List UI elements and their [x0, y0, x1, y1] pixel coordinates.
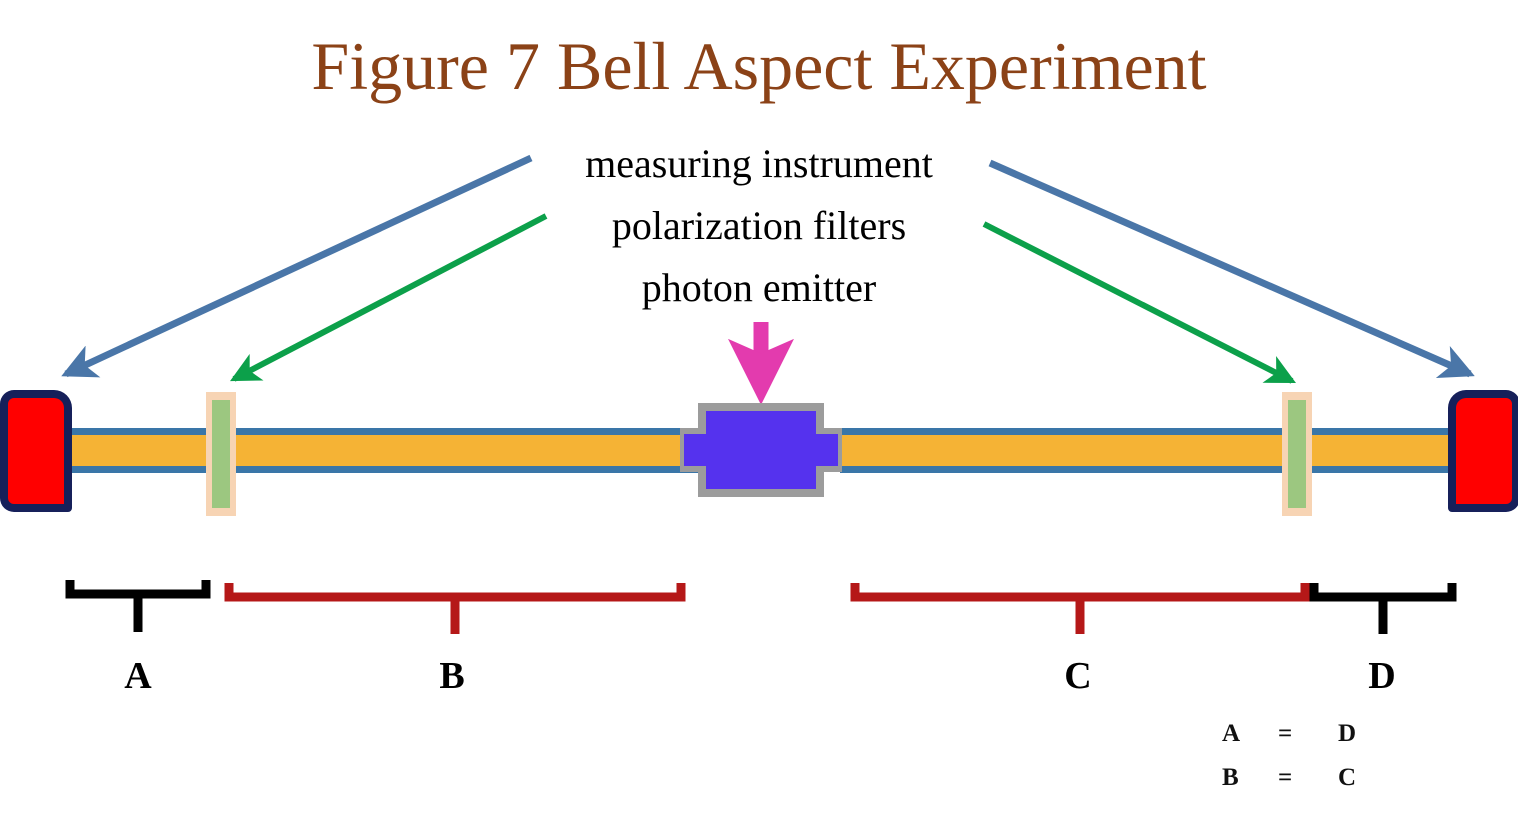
filter-glass-right: [1288, 400, 1306, 508]
region-label-a: A: [78, 655, 198, 697]
equation-2-left: B: [1222, 756, 1278, 800]
equation-2-operator: =: [1278, 756, 1338, 800]
equation-row-2: B = C: [1222, 756, 1378, 800]
equation-1-operator: =: [1278, 712, 1338, 756]
page-title: Figure 7 Bell Aspect Experiment: [0, 28, 1518, 104]
callout-label-polarization-filters: polarization filters: [459, 202, 1059, 250]
region-label-b: B: [392, 655, 512, 697]
callout-label-measuring-instrument: measuring instrument: [459, 140, 1059, 188]
region-label-d: D: [1322, 655, 1442, 697]
equation-2-right: C: [1338, 756, 1378, 800]
region-label-c: C: [1018, 655, 1138, 697]
brace-region-b: [229, 583, 681, 634]
photon-beam-right: [840, 428, 1452, 473]
emitter-core-left-port: [684, 434, 714, 466]
brace-region-c: [855, 583, 1305, 634]
brace-region-a: [70, 580, 206, 632]
emitter-core-right-port: [808, 434, 838, 466]
emitter-core: [706, 411, 816, 489]
brace-region-d: [1314, 583, 1452, 634]
equation-row-1: A = D: [1222, 712, 1378, 756]
photon-emitter[interactable]: [680, 403, 842, 497]
polarization-filter-right[interactable]: [1282, 392, 1312, 516]
arrow-measuring-instrument-right: [990, 163, 1470, 374]
measuring-instrument-right[interactable]: [1448, 390, 1518, 512]
equation-block: A = D B = C: [1222, 712, 1378, 800]
polarization-filter-left[interactable]: [206, 392, 236, 516]
filter-glass-left: [212, 400, 230, 508]
measuring-instrument-left[interactable]: [0, 390, 72, 512]
equation-1-left: A: [1222, 712, 1278, 756]
figure-canvas: Figure 7 Bell Aspect Experiment measurin…: [0, 0, 1518, 819]
photon-beam-left: [68, 428, 700, 473]
callout-label-photon-emitter: photon emitter: [459, 264, 1059, 312]
equation-1-right: D: [1338, 712, 1378, 756]
